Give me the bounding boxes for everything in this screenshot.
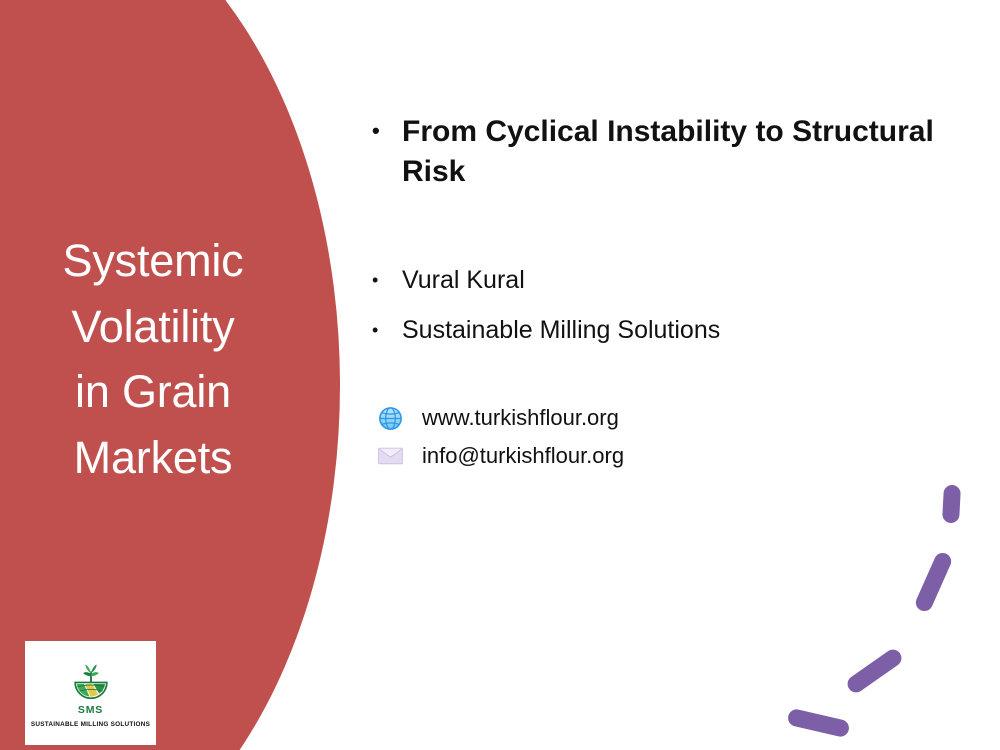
purple-dash-3-icon [844, 646, 905, 695]
slide-title: Systemic Volatility in Grain Markets [8, 228, 298, 491]
email-row[interactable]: info@turkishflour.org [378, 437, 942, 475]
slide-title-line-2: Volatility [8, 294, 298, 360]
slide-title-line-1: Systemic [8, 228, 298, 294]
presenter-list: • Vural Kural • Sustainable Milling Solu… [372, 264, 942, 348]
bullet-icon: • [372, 314, 402, 347]
slide-title-line-3: in Grain [8, 359, 298, 425]
headline-bullet-item: • From Cyclical Instability to Structura… [372, 112, 942, 192]
slide-body: • From Cyclical Instability to Structura… [372, 112, 942, 475]
list-item: • Vural Kural [372, 264, 942, 298]
presenter-organization: Sustainable Milling Solutions [402, 314, 942, 348]
logo-abbreviation: SMS [78, 705, 103, 716]
company-logo: SMS SUSTAINABLE MILLING SOLUTIONS [25, 641, 156, 745]
headline-text: From Cyclical Instability to Structural … [402, 112, 942, 192]
website-row[interactable]: www.turkishflour.org [378, 399, 942, 437]
bullet-icon: • [372, 264, 402, 297]
slide-title-line-4: Markets [8, 425, 298, 491]
email-address[interactable]: info@turkishflour.org [422, 445, 942, 467]
presenter-name: Vural Kural [402, 264, 942, 298]
website-url[interactable]: www.turkishflour.org [422, 407, 942, 429]
envelope-icon [378, 446, 422, 466]
presentation-slide: Systemic Volatility in Grain Markets • F… [0, 0, 1000, 750]
purple-dash-4-icon [786, 708, 850, 739]
sprout-field-emblem-icon [68, 658, 114, 704]
list-item: • Sustainable Milling Solutions [372, 314, 942, 348]
logo-tagline: SUSTAINABLE MILLING SOLUTIONS [31, 722, 150, 728]
bullet-icon: • [372, 112, 402, 150]
contact-block: www.turkishflour.org info@turkishflour.o… [378, 399, 942, 475]
purple-dash-1-icon [942, 485, 961, 524]
purple-dash-2-icon [913, 550, 954, 614]
globe-icon [378, 406, 422, 431]
